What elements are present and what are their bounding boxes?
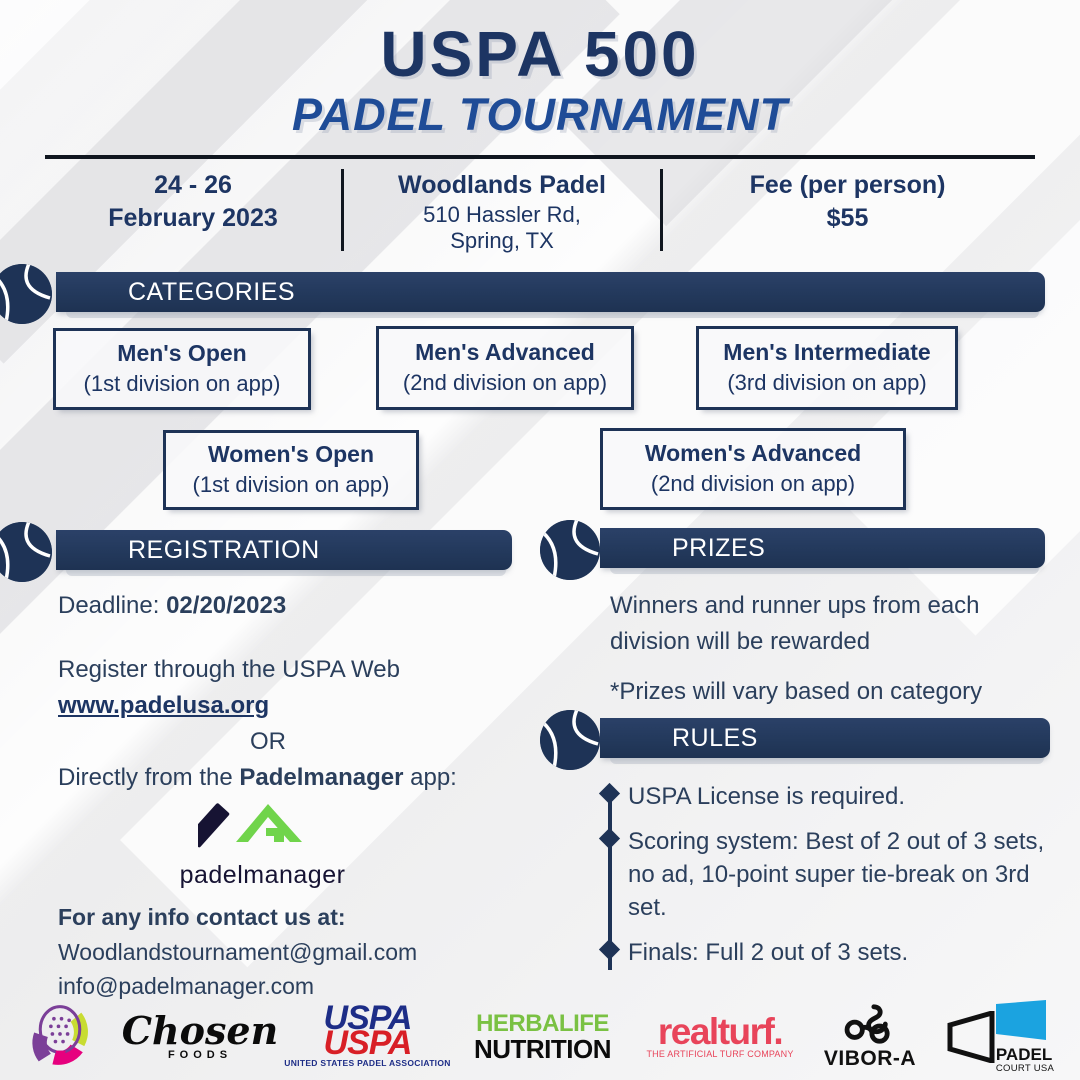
venue-name: Woodlands Padel — [350, 169, 654, 202]
registration-body: Deadline: 02/20/2023 Register through th… — [58, 588, 528, 796]
rule-item: Finals: Full 2 out of 3 sets. — [600, 936, 1050, 969]
tennis-ball-icon — [540, 520, 600, 580]
section-label-prizes: PRIZES — [672, 534, 765, 563]
prizes-note: *Prizes will vary based on category — [610, 674, 1050, 710]
venue-address-1: 510 Hassler Rd, — [350, 202, 654, 228]
info-row: 24 - 26 February 2023 Woodlands Padel 51… — [45, 155, 1035, 251]
fee-value: $55 — [669, 202, 1026, 235]
prizes-body: Winners and runner ups from each divisio… — [610, 588, 1050, 710]
rule-text: Finals: Full 2 out of 3 sets. — [628, 939, 908, 966]
app-line-pre: Directly from the — [58, 764, 239, 791]
tennis-ball-icon — [0, 522, 52, 582]
woodlands-padel-logo-icon — [22, 999, 98, 1075]
chosen-sub-wordmark: FOODS — [168, 1049, 232, 1061]
category-subtitle: (3rd division on app) — [699, 369, 955, 398]
sponsor-woodlands-padel — [0, 999, 120, 1075]
contact-block: For any info contact us at: Woodlandstou… — [58, 900, 528, 1004]
title-block: USPA 500 PADEL TOURNAMENT — [0, 0, 1080, 141]
page-title: USPA 500 — [0, 22, 1080, 87]
rules-list: USPA License is required. Scoring system… — [600, 780, 1050, 982]
padelcourt-wordmark: PADEL — [996, 1046, 1054, 1063]
contact-email-1[interactable]: Woodlandstournament@gmail.com — [58, 935, 528, 970]
info-cell-fee: Fee (per person) $55 — [663, 169, 1032, 251]
category-title: Men's Advanced — [379, 338, 631, 367]
contact-heading: For any info contact us at: — [58, 900, 528, 935]
padelmanager-mark-icon — [198, 790, 328, 852]
sponsor-padel-court-usa: PADEL COURT USA — [930, 1000, 1070, 1074]
register-instruction: Register through the USPA Web — [58, 652, 528, 688]
padelcourt-subtitle: COURT USA — [996, 1063, 1054, 1074]
category-title: Men's Open — [56, 339, 308, 368]
deadline-line: Deadline: 02/20/2023 — [58, 588, 528, 624]
herbalife-nutrition-wordmark: NUTRITION — [474, 1036, 611, 1062]
page-subtitle: PADEL TOURNAMENT — [0, 89, 1080, 141]
vibora-snake-icon — [841, 1003, 899, 1047]
padelmanager-wordmark: padelmanager — [170, 861, 355, 890]
section-label-registration: REGISTRATION — [128, 536, 320, 565]
sponsor-footer: Chosen FOODS USPA USPA UNITED STATES PAD… — [0, 994, 1080, 1080]
chosen-wordmark: Chosen — [122, 1013, 278, 1049]
category-subtitle: (2nd division on app) — [603, 470, 903, 499]
sponsor-vibora: VIBOR-A — [810, 1003, 930, 1071]
sponsor-uspa: USPA USPA UNITED STATES PADEL ASSOCIATIO… — [280, 1006, 455, 1068]
info-cell-venue: Woodlands Padel 510 Hassler Rd, Spring, … — [341, 169, 663, 251]
rules-connector-line — [608, 800, 612, 970]
rule-item: USPA License is required. — [600, 780, 1050, 813]
vibora-wordmark: VIBOR-A — [824, 1047, 916, 1071]
realturf-wordmark: realturf. — [658, 1015, 782, 1048]
rule-text: Scoring system: Best of 2 out of 3 sets,… — [628, 828, 1044, 921]
section-header-prizes: PRIZES — [540, 528, 1045, 572]
deadline-value: 02/20/2023 — [166, 592, 286, 619]
sponsor-chosen-foods: Chosen FOODS — [120, 1013, 280, 1061]
tennis-ball-icon — [0, 264, 52, 324]
category-box: Men's Intermediate (3rd division on app) — [696, 326, 958, 410]
category-subtitle: (2nd division on app) — [379, 369, 631, 398]
category-box: Women's Open (1st division on app) — [163, 430, 419, 510]
category-subtitle: (1st division on app) — [56, 370, 308, 399]
venue-address-2: Spring, TX — [350, 228, 654, 254]
deadline-label: Deadline: — [58, 592, 166, 619]
padel-court-blue-shape-icon — [996, 1000, 1052, 1040]
category-title: Women's Advanced — [603, 439, 903, 468]
registration-website-link[interactable]: www.padelusa.org — [58, 688, 528, 724]
section-header-categories: CATEGORIES — [0, 272, 1045, 316]
app-line-post: app: — [403, 764, 456, 791]
category-title: Women's Open — [166, 440, 416, 469]
category-title: Men's Intermediate — [699, 338, 955, 367]
padelmanager-logo: padelmanager — [170, 790, 355, 890]
or-separator: OR — [58, 724, 478, 760]
sponsor-herbalife: HERBALIFE NUTRITION — [455, 1012, 630, 1062]
prizes-line-1: Winners and runner ups from each — [610, 588, 1050, 624]
date-line-1: 24 - 26 — [51, 169, 335, 202]
tennis-ball-icon — [540, 710, 600, 770]
section-label-rules: RULES — [672, 724, 758, 753]
app-name: Padelmanager — [239, 764, 403, 791]
category-box: Men's Open (1st division on app) — [53, 328, 311, 410]
section-header-registration: REGISTRATION — [0, 530, 512, 574]
category-subtitle: (1st division on app) — [166, 471, 416, 500]
sponsor-realturf: realturf. THE ARTIFICIAL TURF COMPANY — [630, 1015, 810, 1058]
info-cell-date: 24 - 26 February 2023 — [45, 169, 341, 251]
uspa-wordmark-red: USPA — [324, 1031, 412, 1055]
rule-item: Scoring system: Best of 2 out of 3 sets,… — [600, 825, 1050, 924]
uspa-tagline: UNITED STATES PADEL ASSOCIATION — [284, 1058, 450, 1068]
section-header-rules: RULES — [540, 718, 1050, 762]
category-box: Men's Advanced (2nd division on app) — [376, 326, 634, 410]
herbalife-wordmark: HERBALIFE — [476, 1012, 609, 1036]
realturf-tagline: THE ARTIFICIAL TURF COMPANY — [646, 1049, 793, 1059]
section-label-categories: CATEGORIES — [128, 278, 295, 307]
category-box: Women's Advanced (2nd division on app) — [600, 428, 906, 510]
fee-label: Fee (per person) — [669, 169, 1026, 202]
prizes-line-2: division will be rewarded — [610, 624, 1050, 660]
date-line-2: February 2023 — [51, 202, 335, 235]
rule-text: USPA License is required. — [628, 783, 905, 810]
